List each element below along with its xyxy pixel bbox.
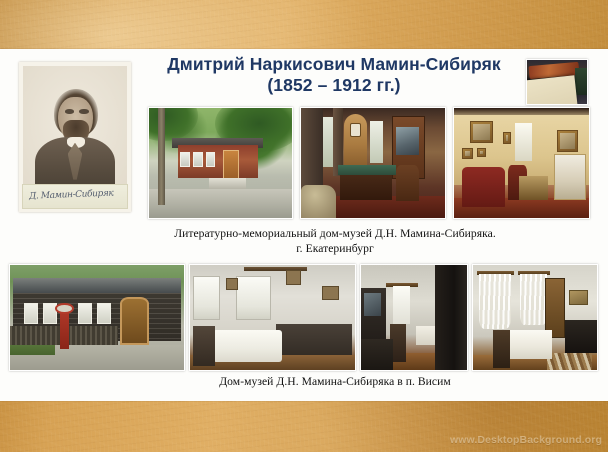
study-cabinet-glass bbox=[396, 127, 419, 156]
visim-room-3-scene bbox=[473, 265, 597, 370]
caption-ekaterinburg-line-1: Литературно-мемориальный дом-музей Д.Н. … bbox=[120, 226, 550, 241]
parlor-picture-large bbox=[470, 121, 493, 143]
room3-table bbox=[503, 330, 553, 359]
study-desk-top bbox=[338, 165, 396, 175]
visim-exterior-scene bbox=[10, 265, 184, 370]
photo-visim-room-curtains bbox=[472, 264, 598, 371]
room2-sofa bbox=[361, 339, 393, 371]
room2-cabinet-glass bbox=[364, 293, 381, 316]
parlor-picture-small-2 bbox=[477, 148, 486, 158]
room1-bench bbox=[276, 324, 352, 356]
portrait-eye-left bbox=[65, 109, 74, 114]
photo-visim-house-exterior bbox=[9, 264, 185, 371]
room1-wall-picture bbox=[226, 278, 238, 291]
visim-roof bbox=[13, 278, 180, 295]
room2-window bbox=[393, 286, 410, 324]
room1-chair bbox=[193, 326, 214, 366]
caption-ekaterinburg: Литературно-мемориальный дом-музей Д.Н. … bbox=[120, 226, 550, 257]
room1-lace-table bbox=[213, 330, 282, 362]
visim-room-2-scene bbox=[361, 265, 467, 370]
study-curtain-left bbox=[301, 108, 323, 196]
visim-window-4 bbox=[97, 303, 111, 324]
slide-title-line-2: (1852 – 1912 гг.) bbox=[150, 75, 518, 96]
house-exterior-scene bbox=[149, 108, 292, 218]
study-wall-clock bbox=[350, 123, 362, 136]
parlor-sofa bbox=[462, 167, 505, 207]
study-armchair bbox=[396, 165, 419, 201]
photo-visim-room-dark-cabinet bbox=[360, 264, 468, 371]
photo-visim-room-lace-table bbox=[189, 264, 356, 371]
parlor-room-scene bbox=[454, 108, 589, 218]
caption-ekaterinburg-line-2: г. Екатеринбург bbox=[120, 241, 550, 256]
visim-window-1 bbox=[24, 303, 38, 324]
photo-parlor-room bbox=[453, 107, 590, 219]
house-window-2 bbox=[193, 152, 202, 167]
site-watermark: www.DesktopBackground.org bbox=[450, 434, 602, 446]
author-signature: Д. Мамин-Сибиряк bbox=[22, 184, 128, 209]
house-door bbox=[223, 150, 239, 180]
presentation-slide: Дмитрий Наркисович Мамин-Сибиряк (1852 –… bbox=[0, 49, 608, 401]
room3-rug bbox=[547, 353, 592, 370]
room2-dark-doorway bbox=[435, 265, 467, 370]
room3-dark-furniture bbox=[565, 320, 597, 354]
parlor-picture-small-1 bbox=[462, 148, 473, 159]
study-foreground-sofa bbox=[301, 185, 336, 218]
room3-curtain-right bbox=[520, 274, 547, 324]
room3-chair bbox=[493, 330, 510, 368]
room1-window-right bbox=[236, 276, 271, 320]
parlor-picture-small-3 bbox=[503, 132, 511, 144]
manuscript-scene bbox=[527, 60, 587, 104]
manuscript-paper-sheet bbox=[526, 76, 578, 105]
study-wall-alcove bbox=[344, 114, 367, 167]
house-window-3 bbox=[206, 152, 215, 167]
room1-wall-portrait bbox=[322, 286, 339, 300]
portrait-photograph: Д. Мамин-Сибиряк bbox=[19, 62, 131, 212]
visim-room-1-scene bbox=[190, 265, 355, 370]
portrait-eye-right bbox=[79, 109, 88, 114]
room3-wall-picture bbox=[569, 290, 589, 305]
parlor-mirror-frame bbox=[557, 130, 579, 152]
photo-manuscript-thumbnail bbox=[526, 59, 588, 105]
room1-window-left bbox=[193, 276, 219, 320]
photo-writer-study-room bbox=[300, 107, 446, 219]
parlor-window bbox=[515, 123, 533, 160]
room1-wall-clock bbox=[286, 270, 301, 285]
slide-title-line-1: Дмитрий Наркисович Мамин-Сибиряк bbox=[150, 54, 518, 75]
photo-house-ekaterinburg-exterior bbox=[148, 107, 293, 219]
visim-entrance-door bbox=[120, 297, 150, 345]
caption-visim: Дом-музей Д.Н. Мамина-Сибиряка в п. Виси… bbox=[120, 374, 550, 389]
house-entry-steps bbox=[209, 178, 246, 189]
slide-title: Дмитрий Наркисович Мамин-Сибиряк (1852 –… bbox=[150, 54, 518, 97]
room3-curtain-left bbox=[479, 274, 511, 329]
tree-trunk bbox=[158, 108, 165, 205]
tree-canopy-left bbox=[148, 107, 198, 141]
parlor-bed bbox=[554, 154, 586, 200]
house-window-1 bbox=[180, 152, 189, 167]
sidewalk-path bbox=[149, 189, 292, 218]
manuscript-green-panel bbox=[575, 68, 587, 95]
study-window-right bbox=[370, 121, 383, 163]
visim-window-3 bbox=[78, 303, 92, 324]
study-desk-body bbox=[340, 172, 392, 201]
study-room-scene bbox=[301, 108, 445, 218]
parlor-table bbox=[519, 176, 549, 200]
author-signature-text: Д. Мамин-Сибиряк bbox=[29, 193, 121, 199]
